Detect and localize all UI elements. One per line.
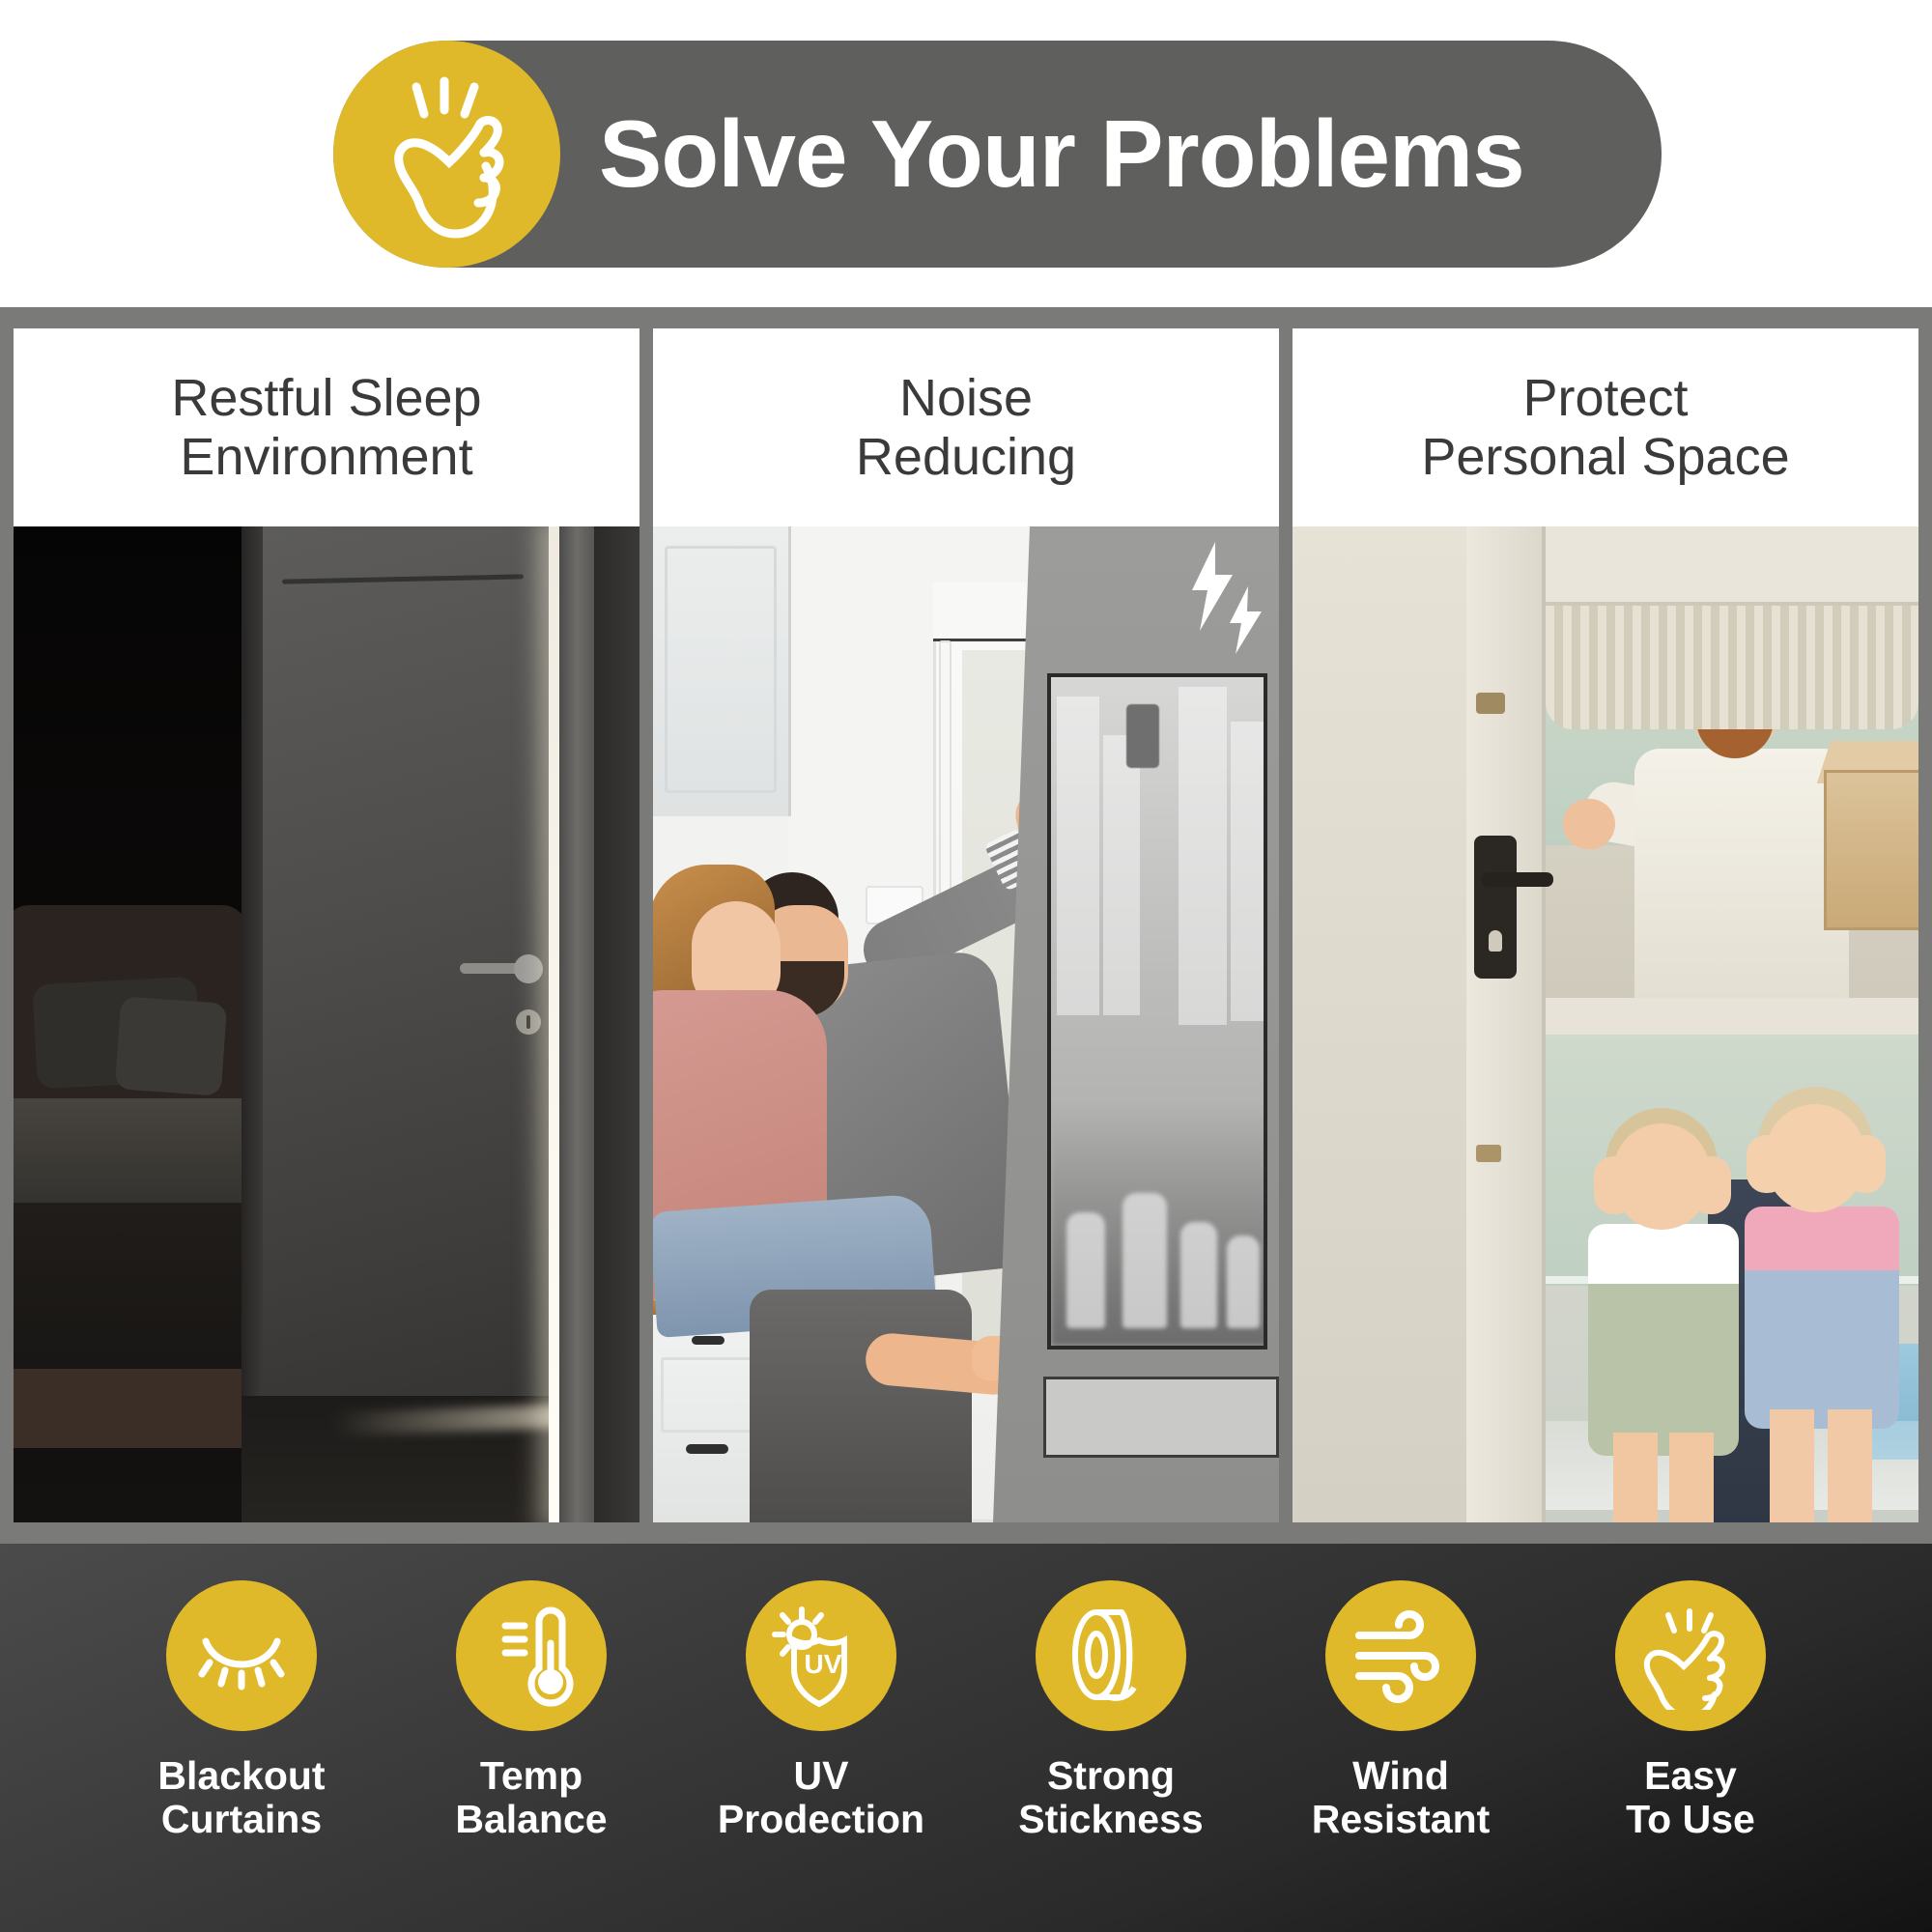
snap-fingers-icon: [1615, 1580, 1766, 1731]
closed-eye-icon: [166, 1580, 317, 1731]
panel-band: Restful SleepEnvironment: [0, 307, 1932, 1544]
page-title: Solve Your Problems: [599, 41, 1642, 268]
feature-uv-prodection[interactable]: UV UV Prodection: [676, 1580, 966, 1841]
feature-easy-to-use[interactable]: Easy To Use: [1546, 1580, 1835, 1841]
feature-label: Strong Stickness: [1018, 1754, 1203, 1841]
feature-strip: Blackout Curtains Temp: [0, 1544, 1932, 1932]
thermometer-icon: [456, 1580, 607, 1731]
feature-label: Easy To Use: [1626, 1754, 1755, 1841]
city-noise-view: [1047, 673, 1267, 1350]
feature-label: Wind Resistant: [1312, 1754, 1491, 1841]
panel-title-1-line2: Environment: [180, 428, 472, 486]
panel-title-2-line1: Noise: [899, 369, 1033, 427]
panel-photo-couple-noise: [653, 526, 1279, 1522]
panel-title-3-line2: Personal Space: [1421, 428, 1789, 486]
panel-title-2: NoiseReducing: [653, 328, 1279, 526]
tape-roll-icon: [1036, 1580, 1186, 1731]
feature-blackout-curtains[interactable]: Blackout Curtains: [97, 1580, 386, 1841]
header: Solve Your Problems: [0, 0, 1932, 307]
panel-title-3: ProtectPersonal Space: [1293, 328, 1918, 526]
feature-temp-balance[interactable]: Temp Balance: [386, 1580, 676, 1841]
feature-wind-resistant[interactable]: Wind Resistant: [1256, 1580, 1546, 1841]
panel-title-2-line2: Reducing: [856, 428, 1076, 486]
uv-shield-icon: UV: [746, 1580, 896, 1731]
panel-title-1-line1: Restful Sleep: [171, 369, 481, 427]
panel-restful-sleep: Restful SleepEnvironment: [14, 328, 639, 1522]
wind-icon: [1325, 1580, 1476, 1731]
feature-strong-stickness[interactable]: Strong Stickness: [966, 1580, 1256, 1841]
panel-title-1: Restful SleepEnvironment: [14, 328, 639, 526]
feature-label: Blackout Curtains: [157, 1754, 325, 1841]
feature-label: Temp Balance: [455, 1754, 607, 1841]
noise-bolt-icon-small: [1225, 586, 1264, 654]
panel-protect-personal-space: ProtectPersonal Space: [1293, 328, 1918, 1522]
feature-label: UV Prodection: [718, 1754, 924, 1841]
panel-photo-door-family: [1293, 526, 1918, 1522]
infographic-root: Solve Your Problems Restful SleepEnviron…: [0, 0, 1932, 1932]
snap-fingers-icon: [333, 41, 560, 268]
svg-text:UV: UV: [805, 1649, 842, 1679]
panel-noise-reducing: NoiseReducing: [653, 328, 1279, 1522]
panel-title-3-line1: Protect: [1522, 369, 1688, 427]
panel-photo-dark-bedroom: [14, 526, 639, 1522]
